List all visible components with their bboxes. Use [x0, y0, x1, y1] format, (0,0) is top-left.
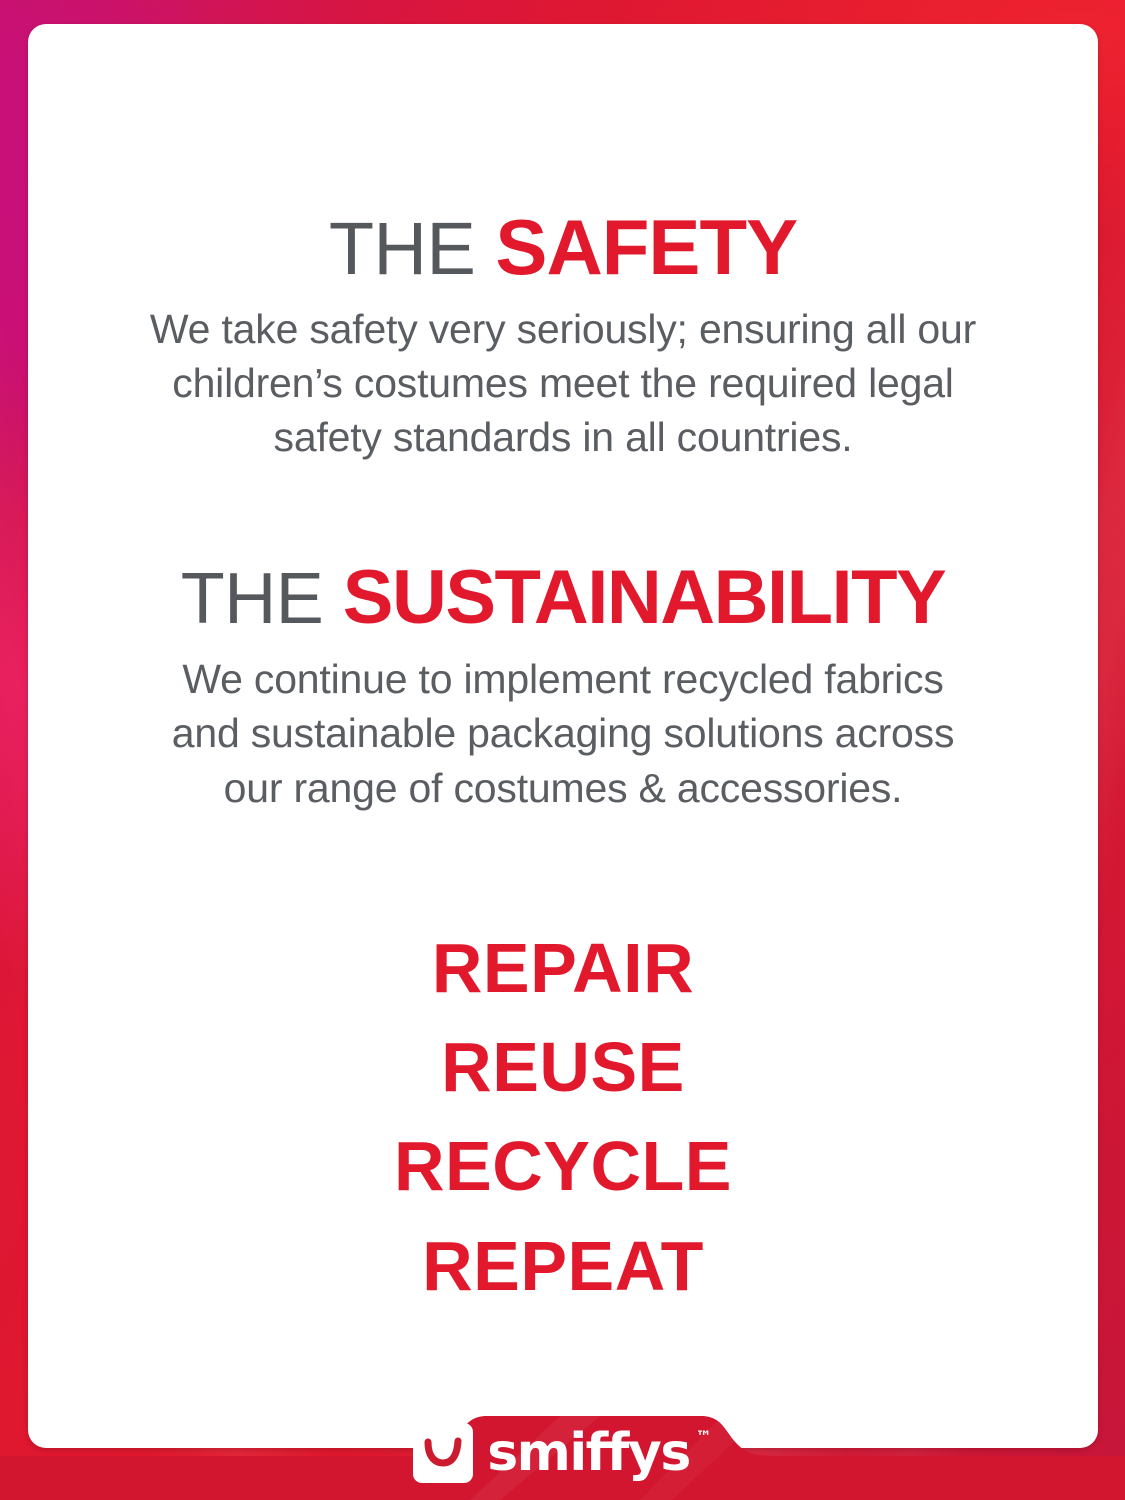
poster-canvas: THE SAFETY We take safety very seriously… [0, 0, 1125, 1500]
rword-recycle: RECYCLE [88, 1117, 1038, 1216]
body-line: We continue to implement recycled fabric… [123, 652, 1003, 706]
section-heading-sustainability: THE SUSTAINABILITY [88, 560, 1038, 636]
trademark-symbol: ™ [696, 1429, 712, 1445]
section-body-sustainability: We continue to implement recycled fabric… [123, 652, 1003, 814]
rwords-block: REPAIR REUSE RECYCLE REPEAT [88, 919, 1038, 1317]
wordmark-text: smiffys [487, 1423, 690, 1483]
content-card: THE SAFETY We take safety very seriously… [28, 24, 1098, 1448]
section-heading-safety: THE SAFETY [88, 208, 1038, 286]
rword-repeat: REPEAT [88, 1217, 1038, 1316]
body-line: children’s costumes meet the required le… [123, 356, 1003, 410]
body-line: and sustainable packaging solutions acro… [123, 706, 1003, 760]
rword-reuse: REUSE [88, 1018, 1038, 1117]
rword-repair: REPAIR [88, 919, 1038, 1018]
card-content: THE SAFETY We take safety very seriously… [28, 24, 1098, 1316]
smile-icon [413, 1423, 473, 1483]
heading-prefix-safety: THE [329, 207, 476, 290]
smiffys-wordmark: smiffys™ [487, 1427, 712, 1479]
section-body-safety: We take safety very seriously; ensuring … [123, 302, 1003, 464]
smiffys-logo[interactable]: smiffys™ [0, 1422, 1125, 1484]
heading-accent-sustainability: SUSTAINABILITY [343, 555, 945, 640]
heading-prefix-sustainability: THE [181, 559, 324, 639]
body-line: We take safety very seriously; ensuring … [123, 302, 1003, 356]
body-line: safety standards in all countries. [123, 410, 1003, 464]
body-line: our range of costumes & accessories. [123, 761, 1003, 815]
heading-accent-safety: SAFETY [495, 203, 797, 291]
